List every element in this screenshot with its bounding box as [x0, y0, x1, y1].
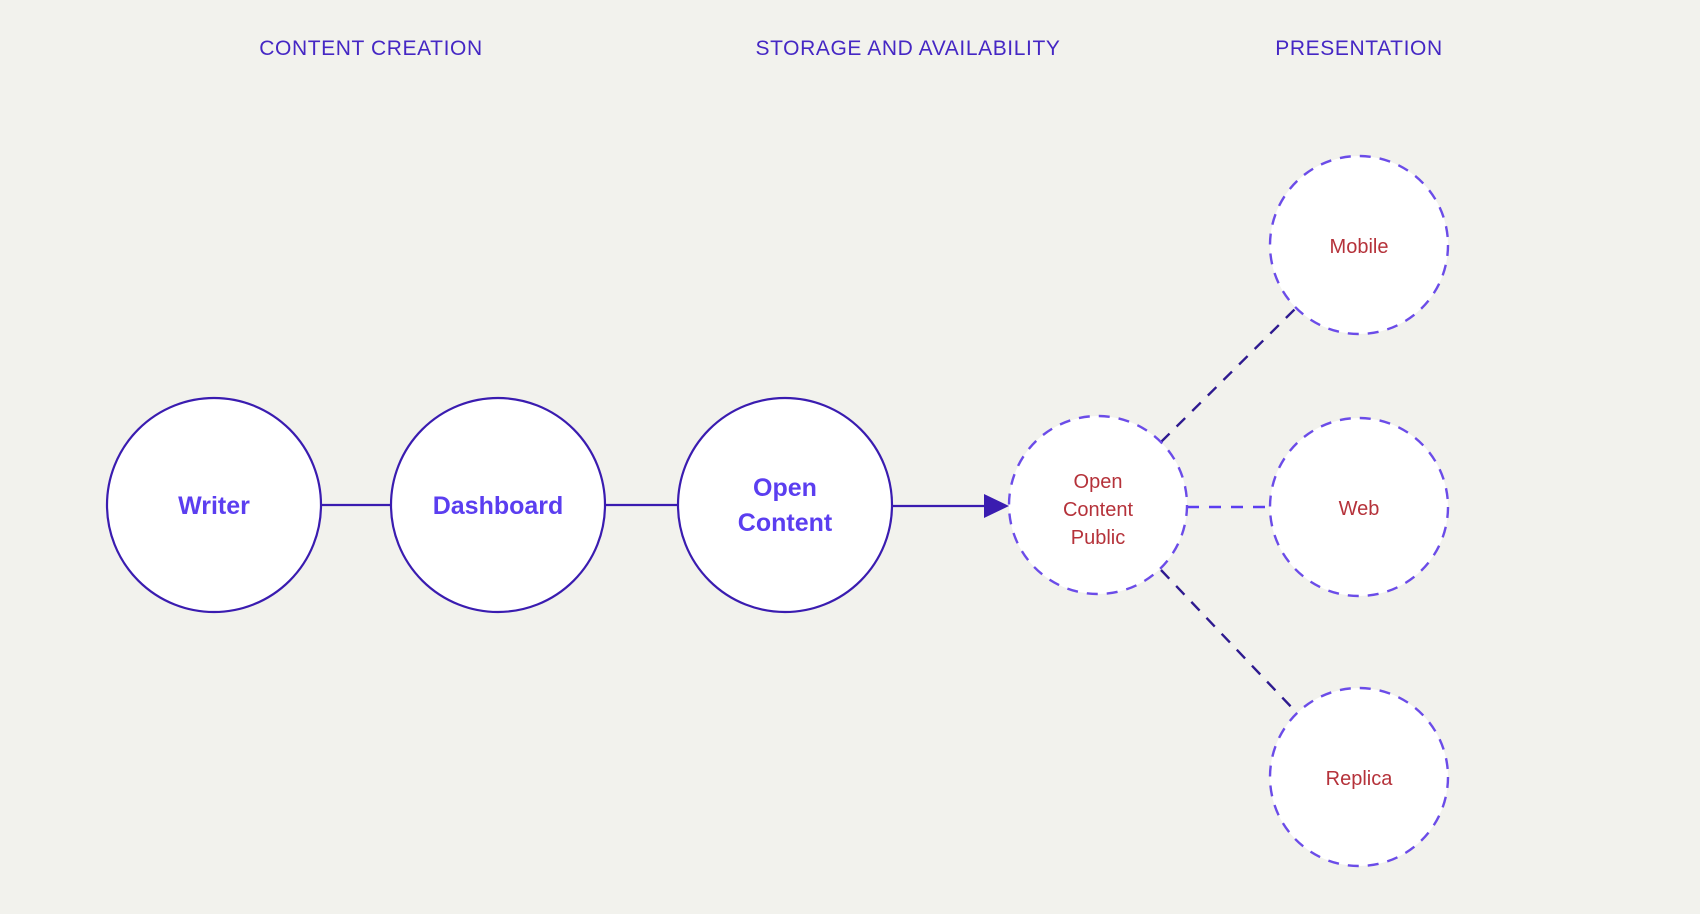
- node-mobile-label: Mobile: [1330, 236, 1389, 258]
- node-open-content-public-label-line-1: Open: [1074, 471, 1123, 493]
- node-open-content-public-label-line-2: Content: [1063, 499, 1133, 521]
- node-replica-label: Replica: [1326, 768, 1394, 790]
- section-headers-group: CONTENT CREATION STORAGE AND AVAILABILIT…: [259, 37, 1442, 60]
- arrowhead-to-open-content-public: [984, 494, 1009, 518]
- node-open-content-public[interactable]: Open Content Public: [1009, 416, 1187, 594]
- node-open-content-label-line-2: Content: [738, 509, 833, 537]
- edge-open-content-public-to-mobile: [1161, 308, 1296, 442]
- node-mobile[interactable]: Mobile: [1270, 156, 1448, 334]
- node-open-content-label-line-1: Open: [753, 474, 817, 502]
- node-open-content-circle[interactable]: [678, 398, 892, 612]
- node-open-content-public-label-line-3: Public: [1071, 527, 1125, 549]
- node-writer-label: Writer: [178, 492, 250, 520]
- node-web-label: Web: [1339, 498, 1380, 520]
- architecture-diagram: CONTENT CREATION STORAGE AND AVAILABILIT…: [0, 0, 1700, 914]
- node-web[interactable]: Web: [1270, 418, 1448, 596]
- diagram-canvas: CONTENT CREATION STORAGE AND AVAILABILIT…: [0, 0, 1700, 914]
- section-header-storage-and-availability: STORAGE AND AVAILABILITY: [755, 37, 1060, 60]
- node-dashboard-label: Dashboard: [433, 492, 564, 520]
- node-open-content[interactable]: Open Content: [678, 398, 892, 612]
- node-replica[interactable]: Replica: [1270, 688, 1448, 866]
- section-header-presentation: PRESENTATION: [1275, 37, 1442, 60]
- section-header-content-creation: CONTENT CREATION: [259, 37, 483, 60]
- edge-open-content-public-to-replica: [1161, 570, 1296, 712]
- node-writer[interactable]: Writer: [107, 398, 321, 612]
- node-dashboard[interactable]: Dashboard: [391, 398, 605, 612]
